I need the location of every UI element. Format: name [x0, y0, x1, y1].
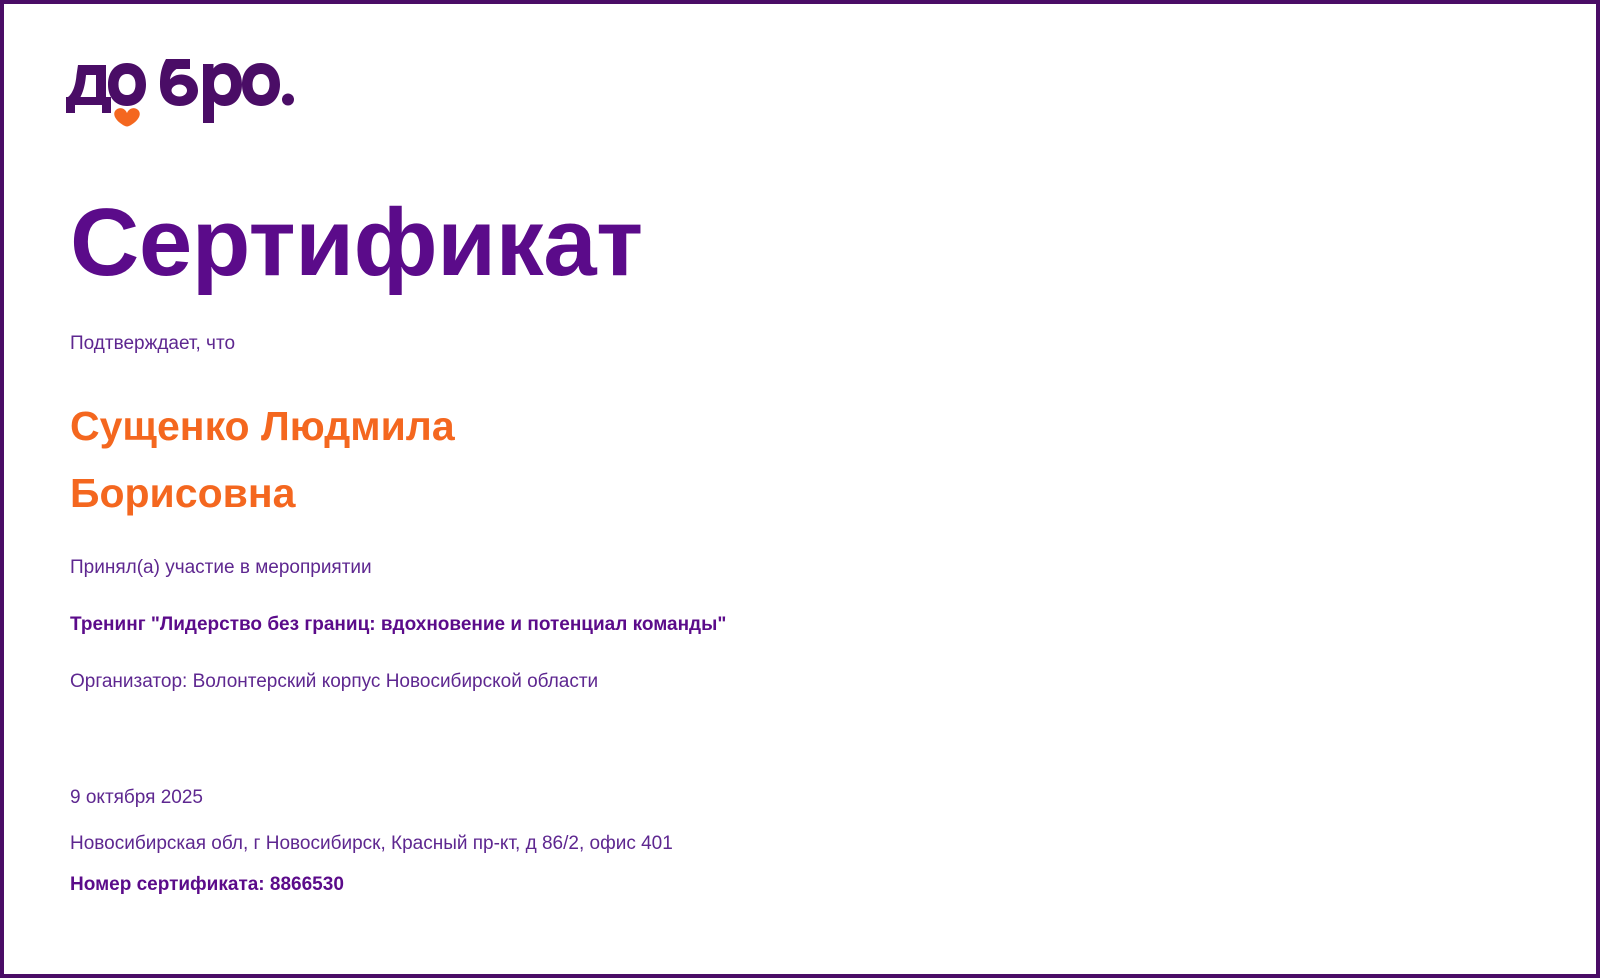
issue-date: 9 октября 2025 — [70, 784, 1510, 830]
event-name: Тренинг "Лидерство без границ: вдохновен… — [70, 582, 1510, 639]
orange-heart-icon — [114, 108, 140, 126]
lead-text: Подтверждает, что — [70, 292, 1510, 358]
recipient-name: Сущенко Людмила Борисовна — [70, 357, 630, 526]
organizer-address: Новосибирская обл, г Новосибирск, Красны… — [70, 830, 1510, 872]
certificate-number: Номер сертификата: 8866530 — [70, 871, 1510, 899]
dobro-rf-logo-icon — [66, 59, 298, 127]
organizer-text: Организатор: Волонтерский корпус Новосиб… — [70, 638, 1510, 696]
participation-text: Принял(а) участие в мероприятии — [70, 526, 1510, 582]
page-title: Сертификат — [70, 194, 1510, 292]
certificate-content: Сертификат Подтверждает, что Сущенко Люд… — [70, 194, 1510, 696]
certificate-page: добро.рф Сертификат Подтверждает, что Су… — [0, 0, 1600, 978]
dobro-rf-logo[interactable]: добро.рф — [66, 59, 366, 131]
certificate-footer: 9 октября 2025 Новосибирская обл, г Ново… — [70, 784, 1510, 899]
